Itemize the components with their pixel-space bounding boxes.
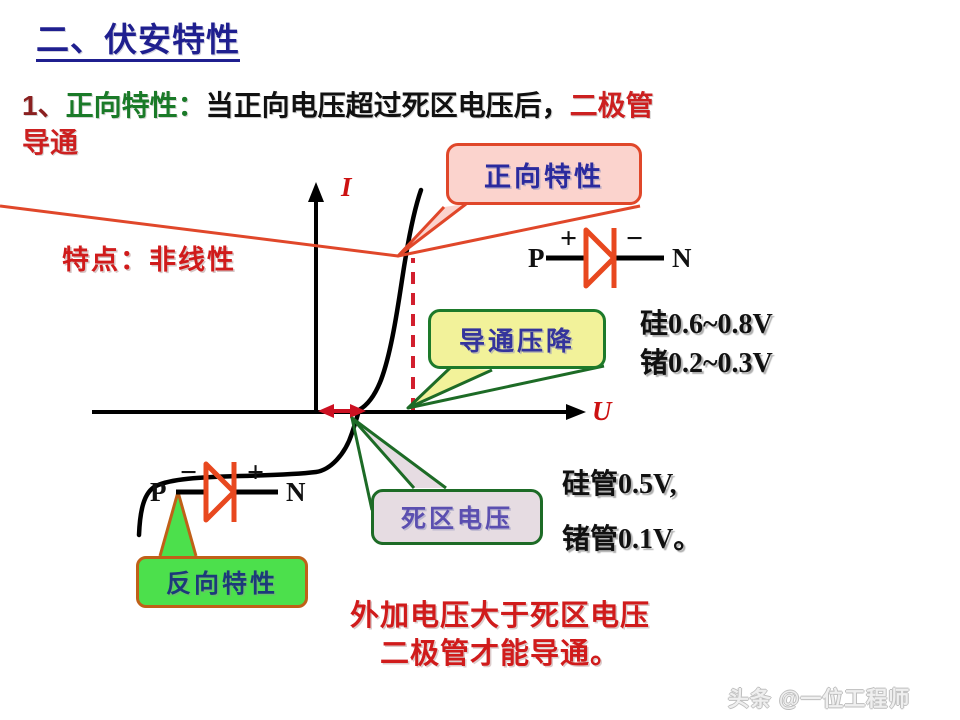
slide-canvas: 二、伏安特性 1、正向特性：当正向电压超过死区电压后，二极管 导通 特点：非线性 bbox=[0, 0, 960, 720]
conduction-drop-values: 硅0.6~0.8V 锗0.2~0.3V bbox=[640, 306, 773, 383]
diode-forward-n-label: N bbox=[672, 243, 692, 274]
diode-reverse-minus-sign: − bbox=[180, 456, 197, 490]
callout-forward-characteristic[interactable]: 正向特性 bbox=[446, 143, 642, 205]
germanium-tube-value: 锗管0.1V。 bbox=[562, 513, 701, 568]
silicon-drop-value: 硅0.6~0.8V bbox=[640, 306, 773, 345]
diode-reverse-p-label: P bbox=[150, 477, 167, 508]
x-axis-label: U bbox=[592, 396, 612, 427]
conclusion-line-1: 外加电压大于死区电压 bbox=[0, 598, 960, 636]
y-axis-label: I bbox=[341, 172, 352, 203]
diode-reverse-n-label: N bbox=[286, 477, 306, 508]
germanium-drop-value: 锗0.2~0.3V bbox=[640, 345, 773, 384]
dead-zone-values: 硅管0.5V, 锗管0.1V。 bbox=[562, 458, 701, 567]
leader-conduction-drop bbox=[408, 366, 604, 408]
diode-forward-minus-sign: − bbox=[626, 222, 643, 256]
callout-conduction-drop[interactable]: 导通压降 bbox=[428, 309, 606, 369]
conclusion-line-2: 二极管才能导通。 bbox=[0, 636, 960, 674]
watermark: 头条 @一位工程师 bbox=[728, 683, 910, 713]
silicon-tube-value: 硅管0.5V, bbox=[562, 458, 701, 513]
diode-forward-p-label: P bbox=[528, 243, 545, 274]
diode-forward-plus-sign: + bbox=[560, 222, 577, 256]
y-axis bbox=[308, 182, 324, 412]
diode-reverse-plus-sign: + bbox=[247, 456, 264, 490]
conclusion-text: 外加电压大于死区电压 二极管才能导通。 bbox=[0, 598, 960, 673]
callout-dead-zone-voltage[interactable]: 死区电压 bbox=[371, 489, 543, 545]
